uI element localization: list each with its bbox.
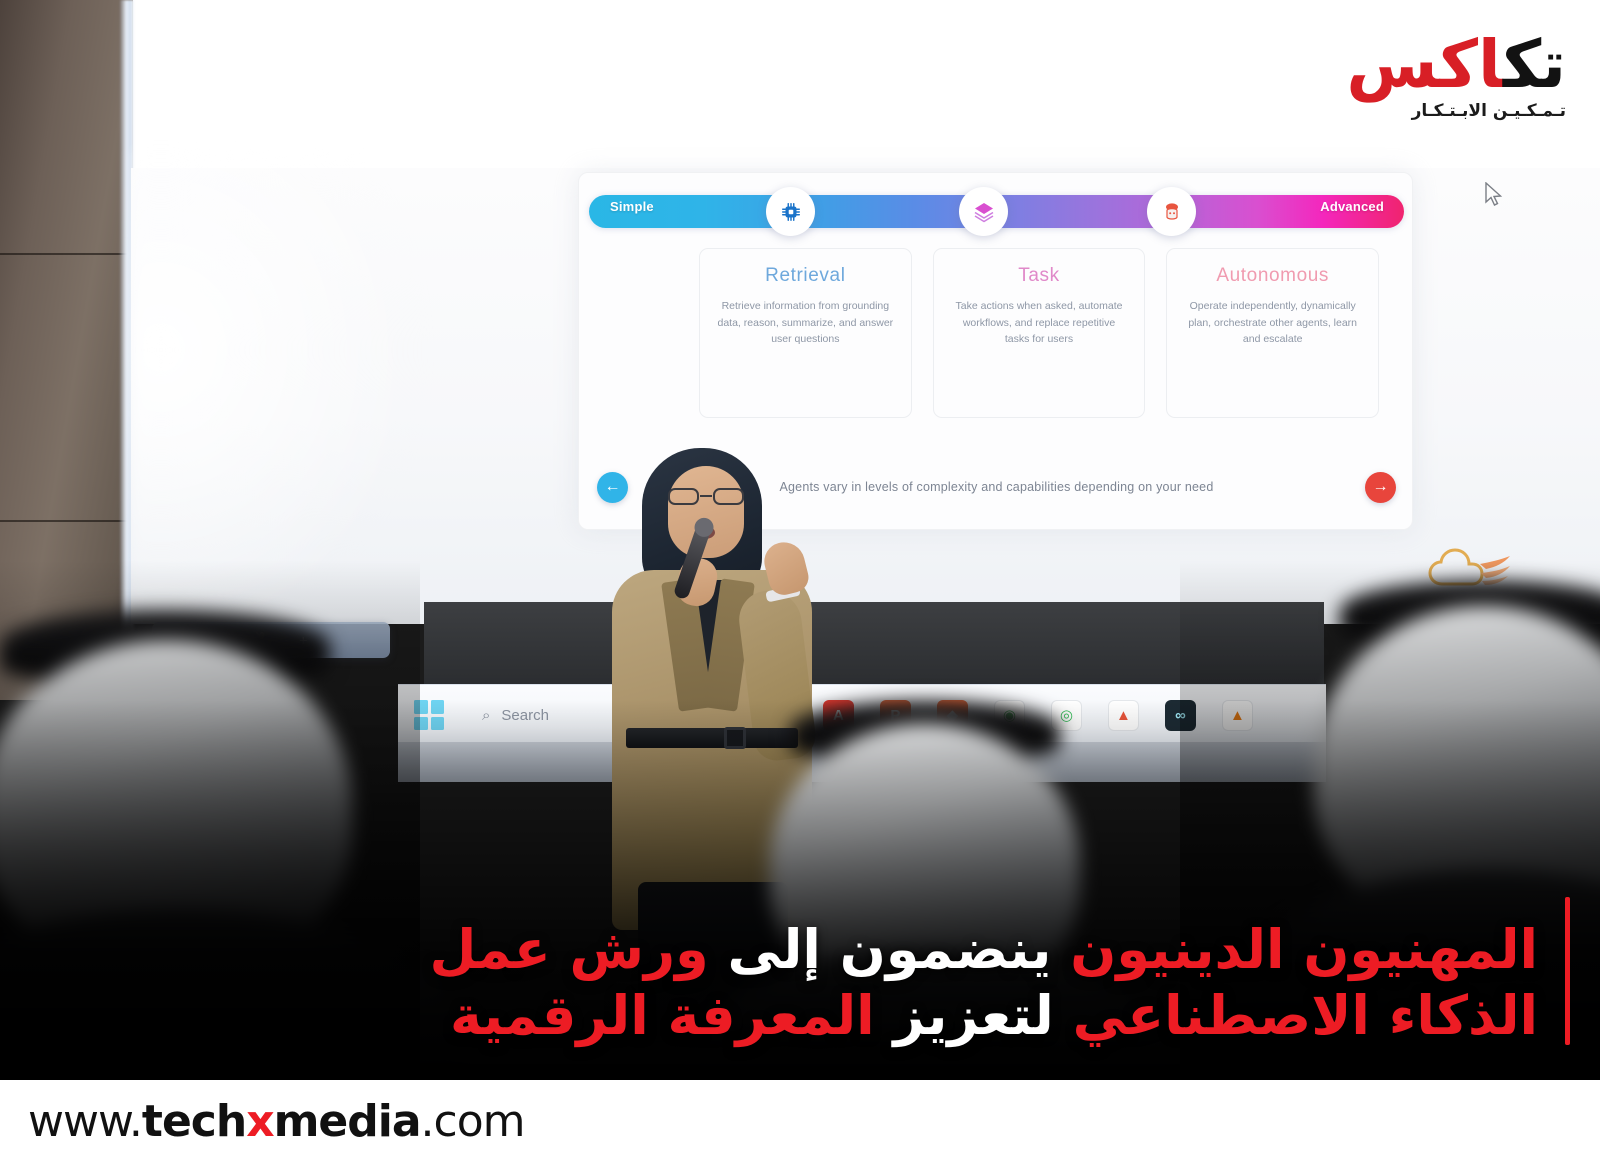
wall-seam bbox=[0, 253, 133, 255]
headline-l2-part1: الذكاء الاصطناعي bbox=[1073, 984, 1538, 1047]
headline-l2-part2: المعرفة الرقمية bbox=[450, 984, 875, 1047]
headline-line-2: الذكاء الاصطناعي لتعزيز المعرفة الرقمية bbox=[118, 983, 1538, 1049]
layers-icon bbox=[959, 187, 1008, 236]
url-suffix: .com bbox=[421, 1096, 525, 1147]
url-tech: tech bbox=[142, 1096, 246, 1147]
headline-accent-bar bbox=[1565, 897, 1570, 1045]
headline: المهنيون الدينيون ينضمون إلى ورش عمل الذ… bbox=[118, 917, 1538, 1049]
logo-wordmark: تكاكس bbox=[1286, 34, 1566, 97]
wall-seam bbox=[0, 520, 133, 522]
scale-label-advanced: Advanced bbox=[1320, 199, 1384, 214]
card-title: Retrieval bbox=[710, 265, 901, 287]
search-placeholder-label: Search bbox=[501, 707, 549, 724]
logo-word-tech: تك bbox=[1503, 26, 1566, 103]
headline-l2-highlight: لتعزيز bbox=[894, 984, 1054, 1047]
website-url[interactable]: www.techxmedia.com bbox=[28, 1096, 525, 1147]
chip-icon bbox=[766, 187, 815, 236]
speaker-glasses bbox=[667, 488, 745, 505]
card-title: Task bbox=[944, 265, 1135, 287]
taskbar-search-box[interactable]: ⌕ Search bbox=[482, 707, 549, 724]
robot-icon bbox=[1147, 187, 1196, 236]
headline-l1-highlight: ينضمون إلى bbox=[728, 918, 1052, 981]
card-body: Take actions when asked, automate workfl… bbox=[944, 298, 1135, 348]
card-title: Autonomous bbox=[1177, 265, 1368, 287]
news-card: Simple Advanced bbox=[0, 0, 1600, 1163]
url-media: media bbox=[274, 1096, 421, 1147]
card-body: Operate independently, dynamically plan,… bbox=[1177, 298, 1368, 348]
card-autonomous: Autonomous Operate independently, dynami… bbox=[1166, 248, 1379, 418]
url-x: x bbox=[246, 1096, 273, 1147]
slide-next-arrow-icon[interactable]: → bbox=[1365, 472, 1396, 503]
card-task: Task Take actions when asked, automate w… bbox=[933, 248, 1146, 418]
agent-type-cards: Retrieval Retrieve information from grou… bbox=[699, 248, 1379, 418]
headline-l1-part1: المهنيون الدينيون bbox=[1070, 918, 1538, 981]
footer-bar: www.techxmedia.com bbox=[0, 1080, 1600, 1163]
search-icon: ⌕ bbox=[482, 707, 490, 724]
headline-l1-part2: ورش عمل bbox=[429, 918, 708, 981]
url-prefix: www. bbox=[28, 1096, 142, 1147]
mouse-cursor-icon bbox=[1484, 182, 1504, 213]
card-body: Retrieve information from grounding data… bbox=[710, 298, 901, 348]
logo-tagline: تـمـكـيـن الابـتـكـار bbox=[1286, 101, 1566, 121]
card-retrieval: Retrieval Retrieve information from grou… bbox=[699, 248, 912, 418]
scale-label-simple: Simple bbox=[610, 199, 654, 214]
techx-logo[interactable]: تكاكس تـمـكـيـن الابـتـكـار bbox=[1286, 34, 1566, 154]
headline-line-1: المهنيون الدينيون ينضمون إلى ورش عمل bbox=[118, 917, 1538, 983]
logo-word-x: اكس bbox=[1346, 26, 1502, 103]
